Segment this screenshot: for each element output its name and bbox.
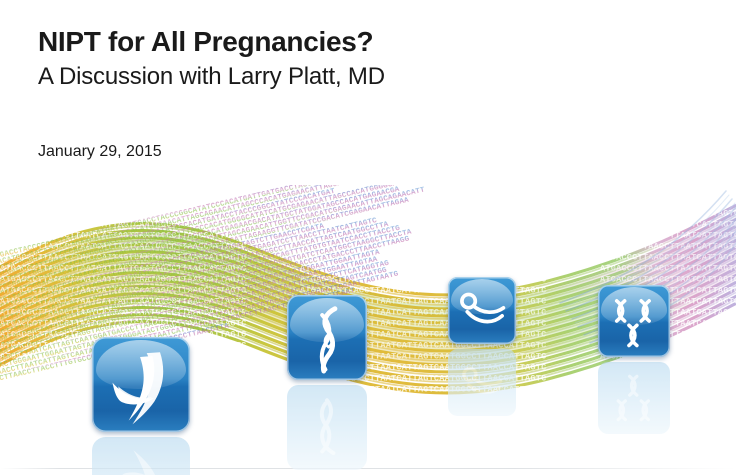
fetus-symbol-icon[interactable] [92, 337, 190, 432]
dna-helix-figure-icon[interactable] [287, 295, 367, 380]
chromosomes-icon-reflection [598, 362, 670, 434]
presentation-slide: NIPT for All Pregnancies? A Discussion w… [0, 0, 736, 475]
dna-helix-figure-icon-reflection [287, 385, 367, 470]
chromosomes-icon[interactable] [598, 285, 670, 357]
sperm-ovum-icon-reflection [448, 349, 516, 416]
title-block: NIPT for All Pregnancies? A Discussion w… [38, 26, 698, 92]
sperm-ovum-icon[interactable] [448, 277, 516, 344]
page-subtitle: A Discussion with Larry Platt, MD [38, 63, 698, 92]
fetus-symbol-icon-reflection [92, 437, 190, 475]
page-title: NIPT for All Pregnancies? [38, 26, 698, 57]
slide-date: January 29, 2015 [38, 143, 162, 161]
